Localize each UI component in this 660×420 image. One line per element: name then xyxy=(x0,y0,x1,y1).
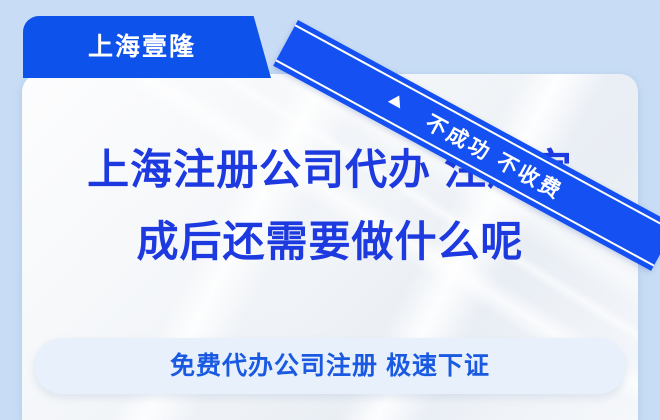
cta-label: 免费代办公司注册 极速下证 xyxy=(170,354,490,379)
promo-poster: 上海注册公司代办 注册完 成后还需要做什么呢 免费代办公司注册 极速下证 上海壹… xyxy=(0,0,660,420)
cta-banner[interactable]: 免费代办公司注册 极速下证 xyxy=(34,338,626,394)
content-card: 上海注册公司代办 注册完 成后还需要做什么呢 免费代办公司注册 极速下证 xyxy=(22,74,638,420)
brand-name-label: 上海壹隆 xyxy=(82,35,196,60)
brand-tab-inner: 上海壹隆 xyxy=(23,16,255,78)
brand-tab: 上海壹隆 xyxy=(23,16,271,78)
headline-line-2: 成后还需要做什么呢 xyxy=(22,206,638,278)
